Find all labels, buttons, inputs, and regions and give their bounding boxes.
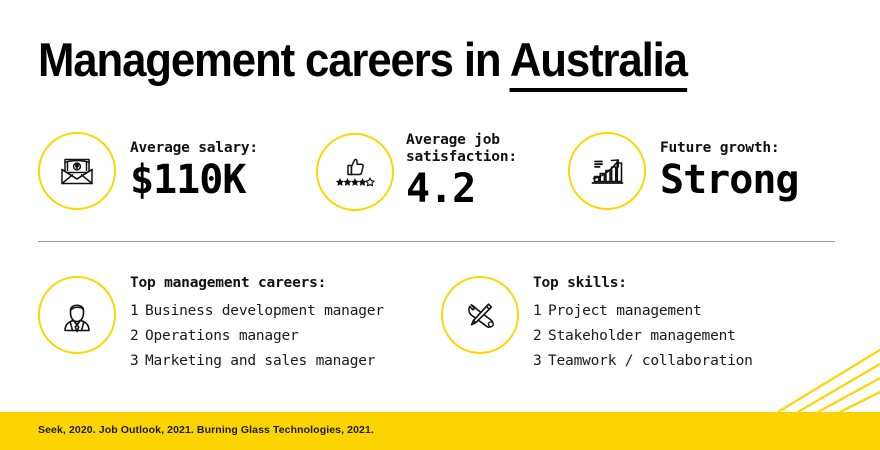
page-title-prefix: Management careers in — [38, 33, 510, 86]
list-item-label: Teamwork / collaboration — [548, 353, 753, 369]
stat-value: $110K — [130, 158, 258, 202]
list-item: 3Teamwork / collaboration — [533, 349, 753, 374]
stat-future-growth: Future growth: Strong — [568, 132, 799, 210]
list-title: Top skills: — [533, 274, 753, 292]
list-item-label: Operations manager — [145, 328, 299, 344]
list-text-group: Top management careers: 1Business develo… — [130, 274, 384, 374]
stat-text-group: Average salary: $110K — [130, 140, 258, 202]
list-item-label: Stakeholder management — [548, 328, 736, 344]
stat-label: Future growth: — [660, 140, 799, 157]
page-title-emphasis: Australia — [510, 33, 687, 92]
list-item-label: Marketing and sales manager — [145, 353, 375, 369]
stat-job-satisfaction: Average job satisfaction: 4.2 — [316, 132, 517, 211]
lists-row: Top management careers: 1Business develo… — [38, 274, 848, 374]
stat-average-salary: Average salary: $110K — [38, 132, 258, 210]
footer-sources: Seek, 2020. Job Outlook, 2021. Burning G… — [38, 424, 374, 436]
list-item-number: 1 — [130, 299, 145, 324]
list-item-number: 3 — [533, 349, 548, 374]
list-item: 2Stakeholder management — [533, 324, 753, 349]
stat-value: Strong — [660, 158, 799, 202]
stat-label: Average salary: — [130, 140, 258, 157]
list-top-skills: Top skills: 1Project management 2Stakeho… — [441, 274, 753, 374]
growth-chart-icon — [568, 132, 646, 210]
thumbs-up-rating-icon — [316, 133, 394, 211]
stat-text-group: Future growth: Strong — [660, 140, 799, 202]
stats-row: Average salary: $110K — [38, 132, 848, 216]
page-title: Management careers in Australia — [38, 32, 687, 87]
envelope-money-icon — [38, 132, 116, 210]
list-item: 1Project management — [533, 299, 753, 324]
stat-text-group: Average job satisfaction: 4.2 — [406, 132, 517, 211]
wrench-pencil-icon — [441, 276, 519, 354]
list-item-number: 2 — [130, 324, 145, 349]
list-item: 3Marketing and sales manager — [130, 349, 384, 374]
stat-label: Average job satisfaction: — [406, 132, 517, 166]
stat-value: 4.2 — [406, 167, 517, 211]
infographic-canvas: Management careers in Australia — [0, 0, 880, 450]
list-item-number: 1 — [533, 299, 548, 324]
list-text-group: Top skills: 1Project management 2Stakeho… — [533, 274, 753, 374]
list-item-number: 3 — [130, 349, 145, 374]
footer-bar: Seek, 2020. Job Outlook, 2021. Burning G… — [0, 412, 880, 450]
list-item-label: Business development manager — [145, 303, 384, 319]
section-divider — [38, 241, 835, 242]
list-top-management-careers: Top management careers: 1Business develo… — [38, 274, 384, 374]
list-item: 2Operations manager — [130, 324, 384, 349]
list-item-label: Project management — [548, 303, 702, 319]
businessperson-icon — [38, 276, 116, 354]
list-title: Top management careers: — [130, 274, 384, 292]
list-item-number: 2 — [533, 324, 548, 349]
list-item: 1Business development manager — [130, 299, 384, 324]
